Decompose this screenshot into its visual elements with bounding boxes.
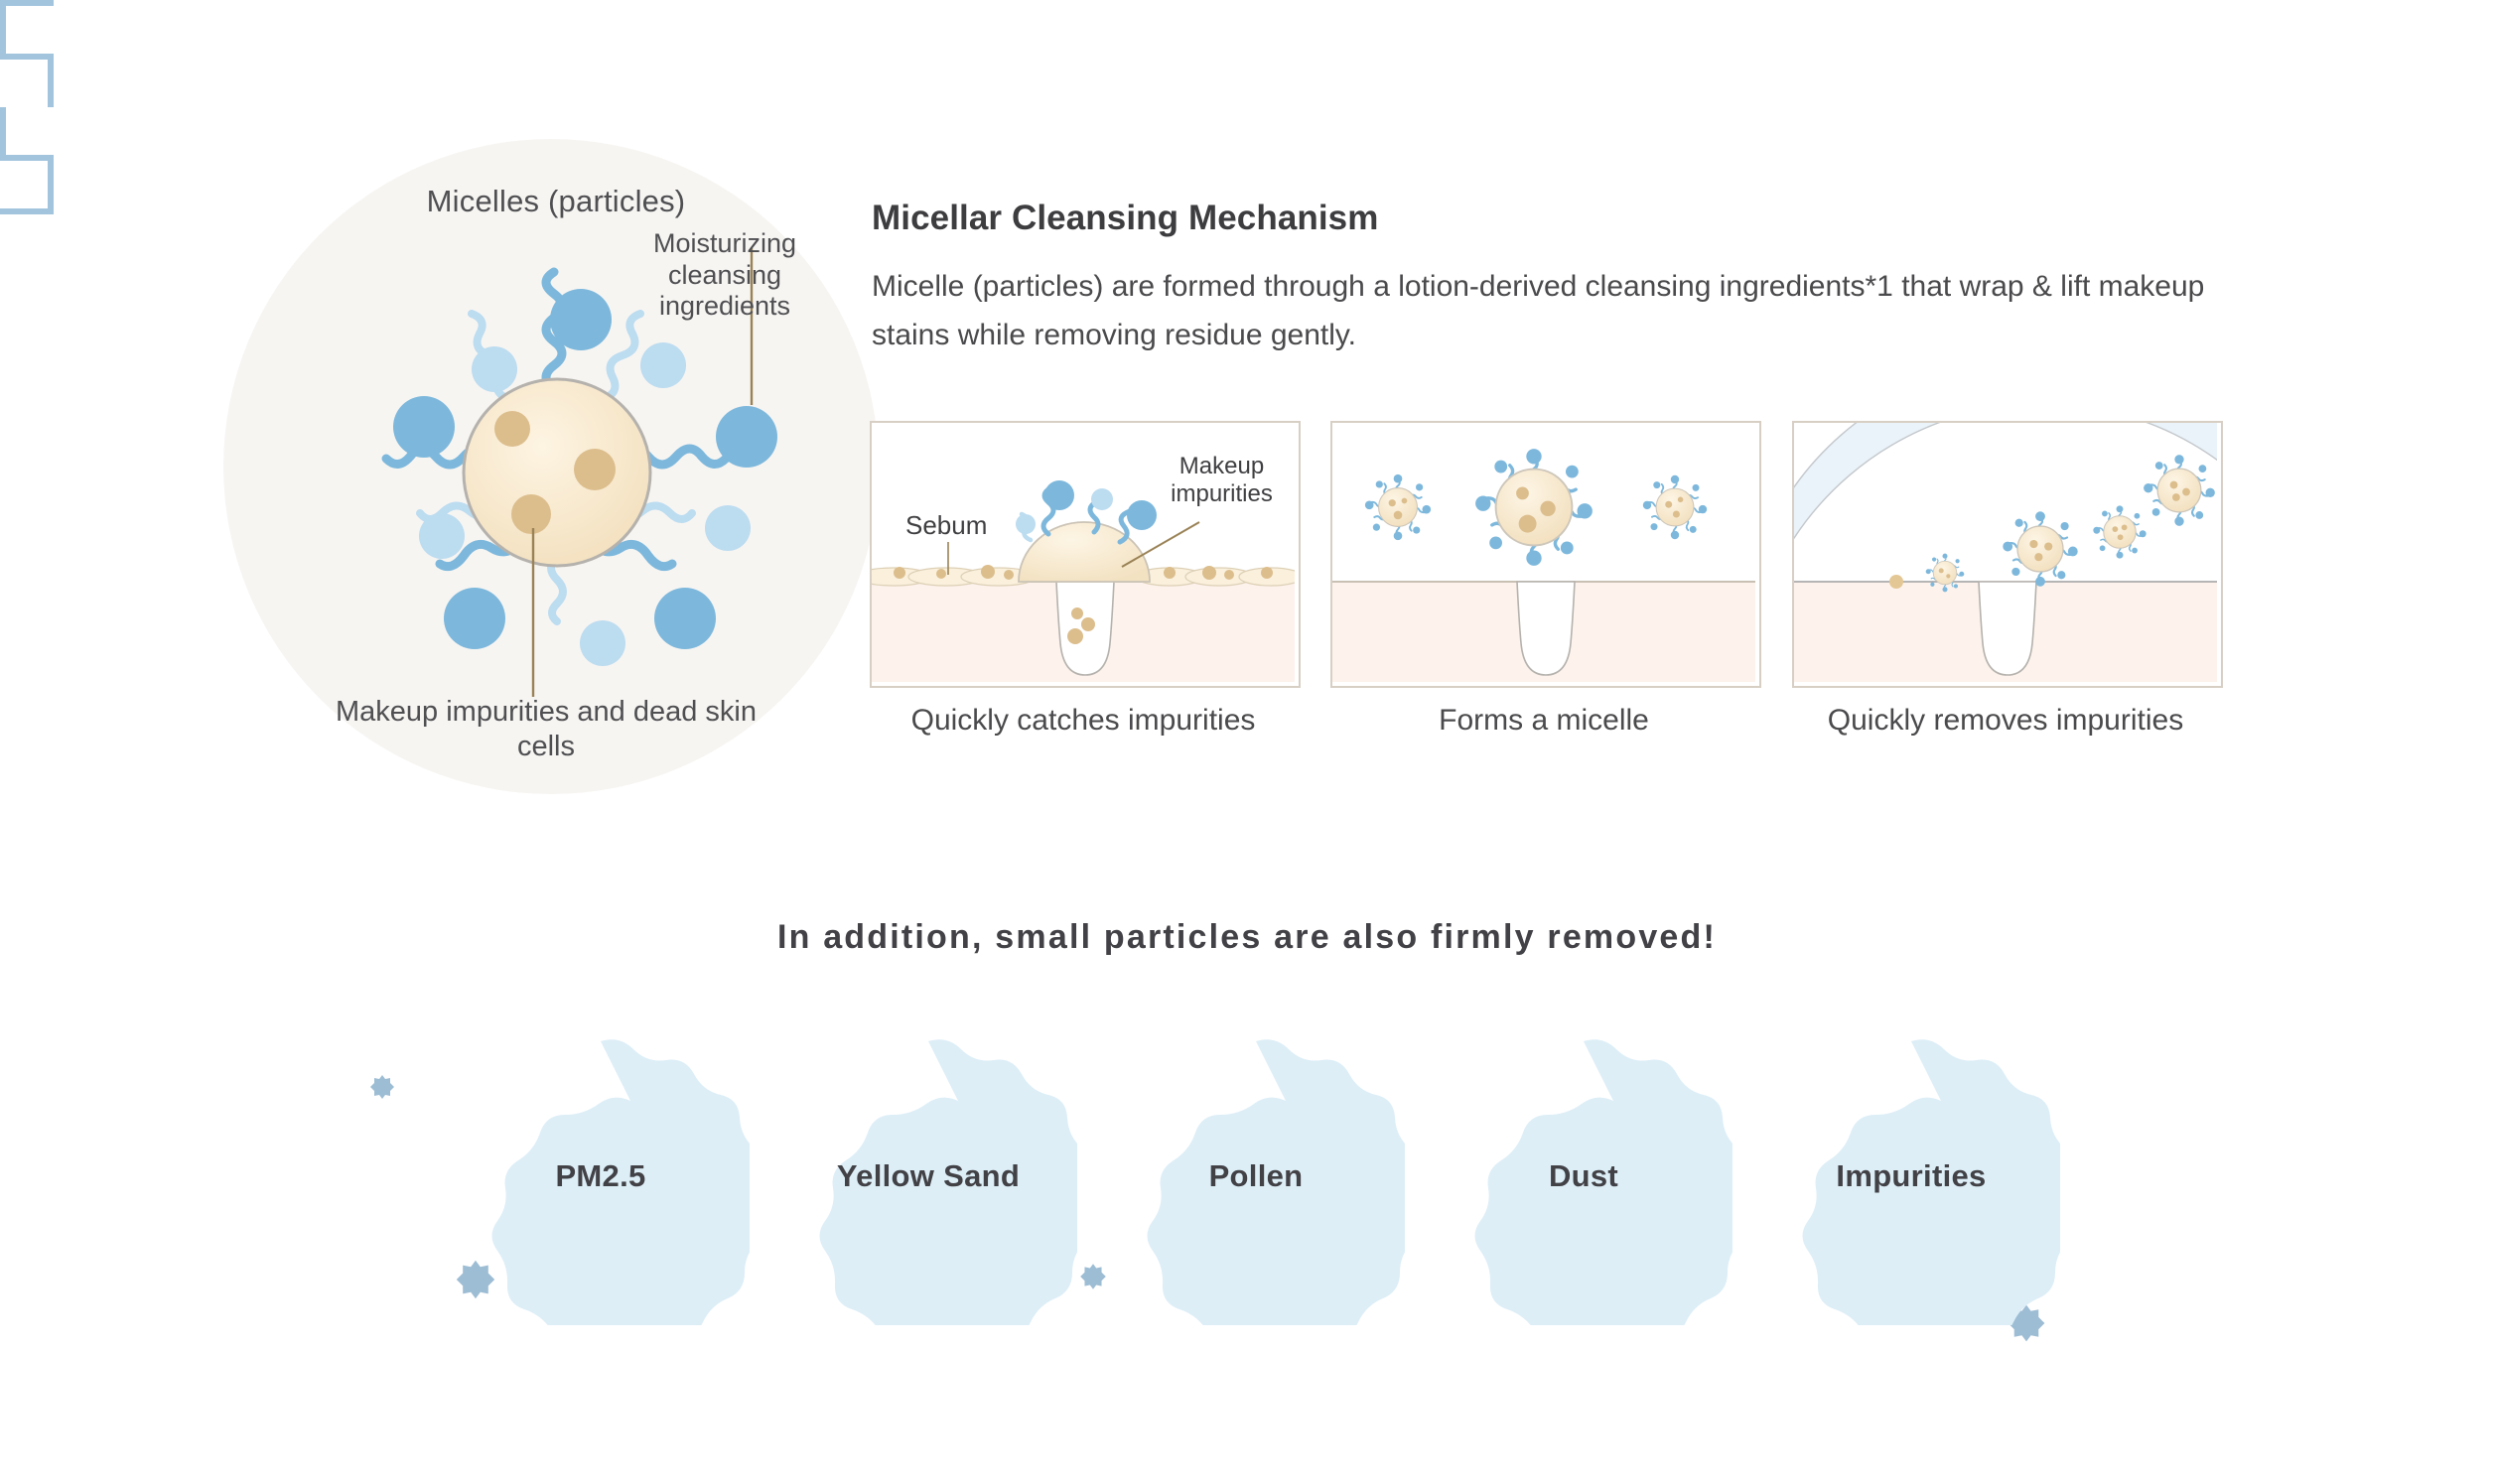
panel-quickly-removes-impurities — [1792, 421, 2223, 688]
page-title: Micellar Cleansing Mechanism — [872, 199, 2262, 238]
micelle-small-left — [1365, 474, 1431, 540]
hero-label-micelles: Micelles (particles) — [357, 184, 755, 219]
panel-caption-1: Quickly catches impurities — [870, 701, 1297, 741]
pore — [1517, 582, 1575, 675]
particle-label-pollen: Pollen — [1107, 1027, 1405, 1325]
speck-particle-1 — [367, 1072, 397, 1102]
corner-bracket-top-right — [0, 54, 54, 107]
micelle-large-center — [1475, 449, 1593, 566]
panel-quickly-catches-impurities: Sebum Makeup impurities — [870, 421, 1301, 688]
micelle-small-right — [1643, 475, 1707, 539]
particle-label-dust: Dust — [1435, 1027, 1732, 1325]
panel-caption-2: Forms a micelle — [1330, 701, 1757, 741]
panel1-makeup-impurities-label: Makeup impurities — [1160, 453, 1284, 509]
panel-forms-a-micelle — [1330, 421, 1761, 688]
mechanism-description: Micelle (particles) are formed through a… — [872, 263, 2242, 359]
corner-bracket-bottom-left — [0, 107, 54, 161]
particle-blob-pollen: Pollen — [1107, 1027, 1405, 1325]
micelle-traveling-2 — [2003, 511, 2077, 586]
particle-label-impurities: Impurities — [1762, 1027, 2060, 1325]
pore — [1979, 582, 2036, 675]
particle-label-pm25: PM2.5 — [452, 1027, 750, 1325]
speck-particle-3 — [1077, 1261, 1109, 1292]
hero-label-makeup-impurities: Makeup impurities and dead skin cells — [328, 695, 764, 764]
micelle-core — [464, 379, 650, 566]
particle-blob-yellow-sand: Yellow Sand — [779, 1027, 1077, 1325]
micelle-traveling-4 — [2144, 455, 2215, 526]
bottom-headline: In addition, small particles are also fi… — [453, 918, 2041, 957]
corner-bracket-bottom-right — [0, 161, 54, 214]
particle-blob-impurities: Impurities — [1762, 1027, 2060, 1325]
corner-bracket-top-left — [0, 0, 54, 54]
particle-blob-pm25: PM2.5 — [452, 1027, 750, 1325]
particle-label-yellow-sand: Yellow Sand — [779, 1027, 1077, 1325]
makeup-impurity-dome — [1019, 522, 1150, 582]
hero-label-moisturizing-ingredients: Moisturizing cleansing ingredients — [616, 228, 834, 323]
micelle-traveling-3 — [2093, 505, 2146, 558]
panel-caption-3: Quickly removes impurities — [1792, 701, 2219, 741]
panel1-sebum-label: Sebum — [905, 510, 987, 541]
particle-blob-dust: Dust — [1435, 1027, 1732, 1325]
